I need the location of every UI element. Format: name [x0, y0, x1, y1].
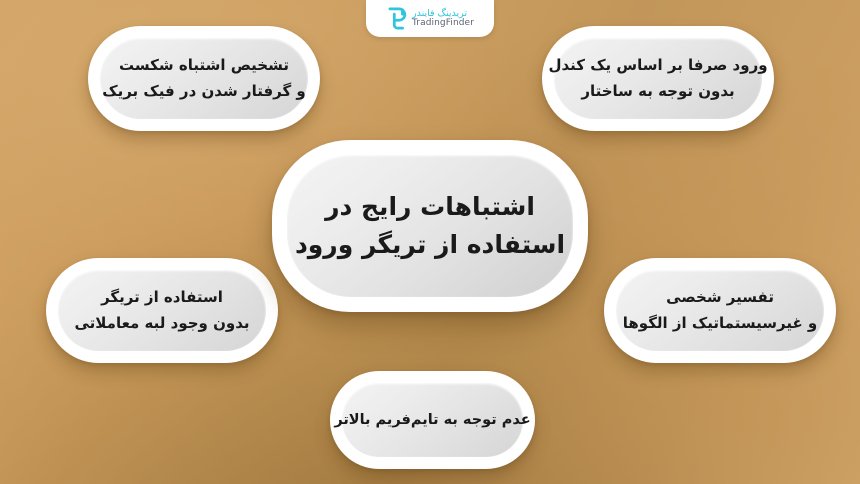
node-line-2: بدون توجه به ساختار: [581, 79, 734, 105]
node-line-2: و گرفتار شدن در فیک بریک: [102, 79, 306, 105]
node-panel: عدم توجه به تایم‌فریم بالاتر: [342, 383, 523, 457]
tradingfinder-logo-icon: [386, 7, 407, 30]
node-panel: تشخیص اشتباه شکست و گرفتار شدن در فیک بر…: [100, 38, 308, 119]
node-mistake-subjective-pattern-reading[interactable]: تفسیر شخصی و غیرسیستماتیک از الگوها: [604, 258, 836, 363]
center-node[interactable]: اشتباهات رایج در استفاده از تریگر ورود: [272, 140, 588, 312]
center-node-line-2: استفاده از تریگر ورود: [295, 226, 565, 264]
node-panel: ورود صرفا بر اساس یک کندل بدون توجه به س…: [554, 38, 762, 119]
node-panel: استفاده از تریگر بدون وجود لبه معاملاتی: [58, 270, 266, 351]
brand-logo-tab[interactable]: تریدینگ فایندر TradingFinder: [366, 0, 494, 37]
node-mistake-no-trading-edge[interactable]: استفاده از تریگر بدون وجود لبه معاملاتی: [46, 258, 278, 363]
node-line-1: تشخیص اشتباه شکست: [119, 53, 289, 79]
node-line-1: تفسیر شخصی: [666, 285, 774, 311]
infographic-canvas: تریدینگ فایندر TradingFinder اشتباهات را…: [0, 0, 860, 484]
node-line-2: و غیرسیستماتیک از الگوها: [623, 311, 817, 337]
brand-name-en: TradingFinder: [412, 19, 474, 28]
node-line-1: عدم توجه به تایم‌فریم بالاتر: [334, 408, 530, 433]
node-line-2: بدون وجود لبه معاملاتی: [74, 311, 249, 337]
node-panel: تفسیر شخصی و غیرسیستماتیک از الگوها: [616, 270, 824, 351]
brand-logo-text: تریدینگ فایندر TradingFinder: [412, 9, 474, 28]
node-mistake-ignoring-higher-timeframe[interactable]: عدم توجه به تایم‌فریم بالاتر: [330, 371, 535, 469]
node-line-1: ورود صرفا بر اساس یک کندل: [548, 53, 767, 79]
node-mistake-false-breakout[interactable]: تشخیص اشتباه شکست و گرفتار شدن در فیک بر…: [88, 26, 320, 131]
node-mistake-single-candle-entry[interactable]: ورود صرفا بر اساس یک کندل بدون توجه به س…: [542, 26, 774, 131]
node-line-1: استفاده از تریگر: [101, 285, 223, 311]
center-node-panel: اشتباهات رایج در استفاده از تریگر ورود: [287, 155, 573, 297]
center-node-line-1: اشتباهات رایج در: [325, 188, 535, 226]
